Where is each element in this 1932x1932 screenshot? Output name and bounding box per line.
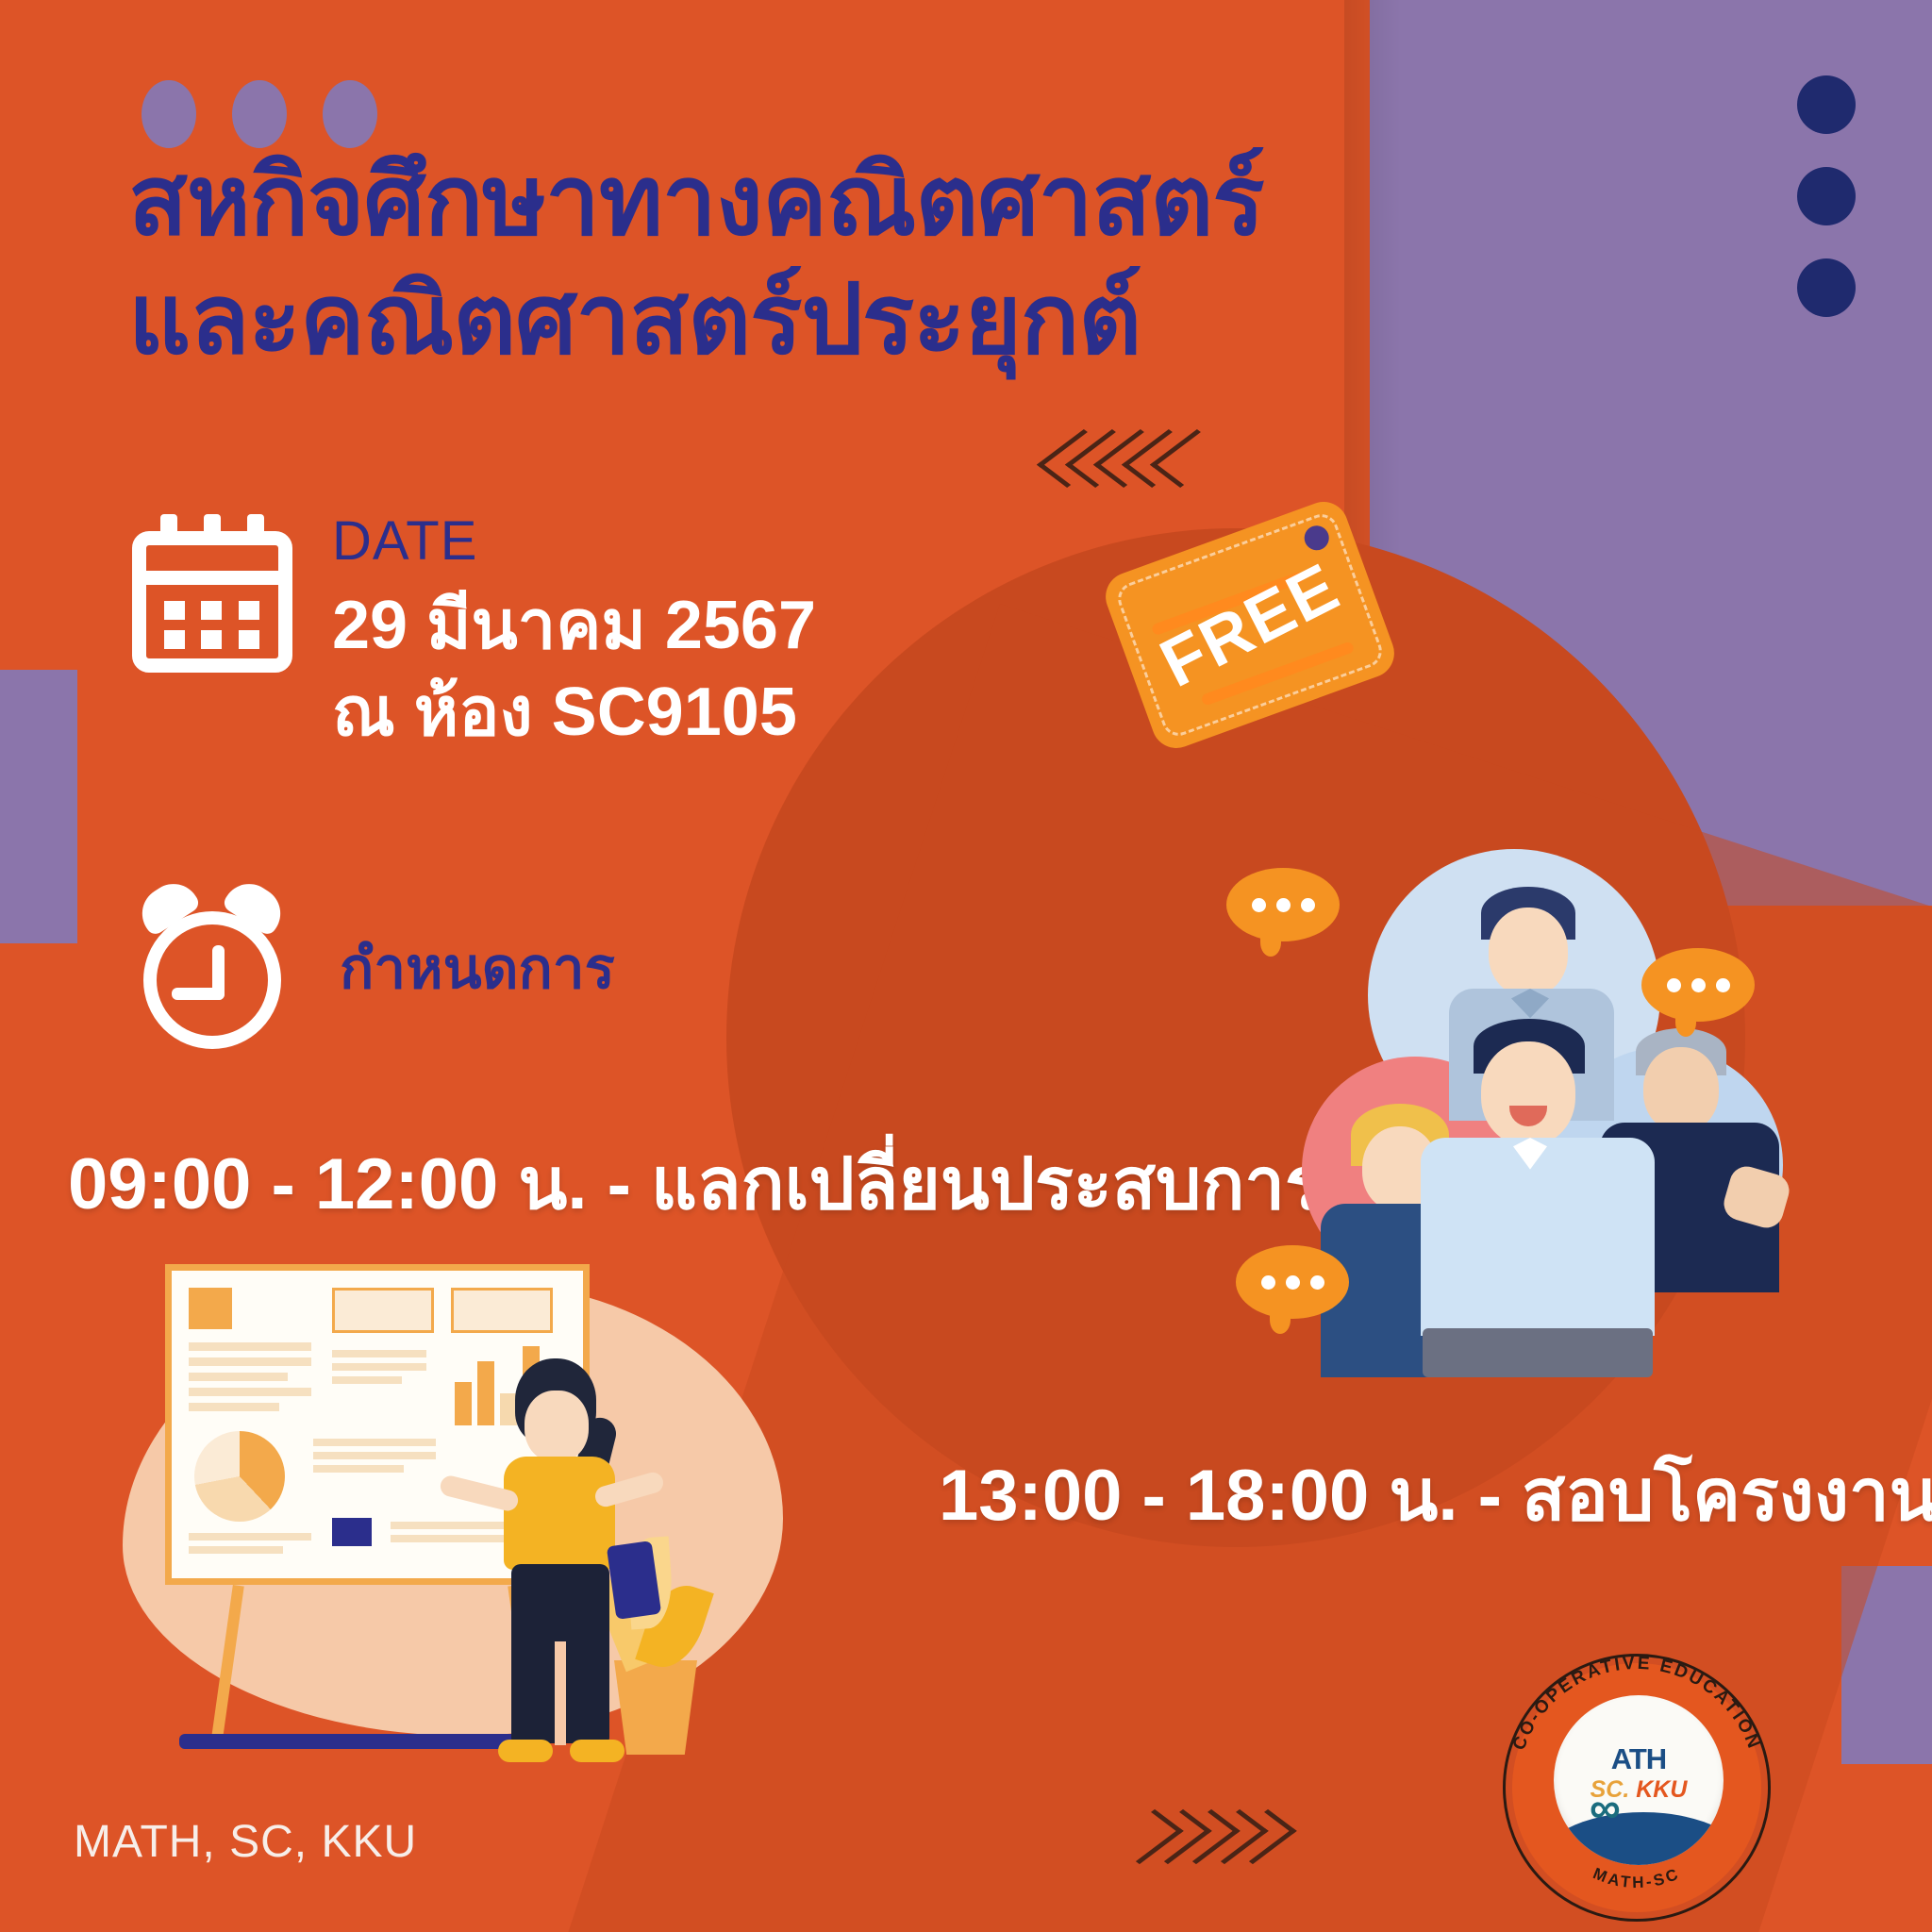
badge-arc-text: CO-OPERATIVE EDUCATION MATH-SC — [1495, 1646, 1778, 1929]
decorative-dots-top-right — [1797, 75, 1856, 350]
speech-bubble-icon — [1226, 868, 1340, 941]
person-presenter — [472, 1358, 670, 1764]
calendar-icon — [132, 514, 292, 673]
date-value: 29 มีนาคม 2567 — [332, 582, 816, 669]
schedule-item-afternoon: 13:00 - 18:00 น. - สอบโครงงาน — [939, 1439, 1932, 1552]
date-label: DATE — [332, 514, 816, 569]
title-line-1: สหกิจศึกษาทางคณิตศาสตร์ — [128, 146, 1264, 255]
page-title: สหกิจศึกษาทางคณิตศาสตร์ และคณิตศาสตร์ประ… — [128, 142, 1383, 378]
svg-text:CO-OPERATIVE EDUCATION: CO-OPERATIVE EDUCATION — [1509, 1654, 1764, 1753]
speech-bubble-icon — [1236, 1245, 1349, 1319]
schedule-label: กำหนดการ — [340, 924, 615, 1013]
date-info-row: DATE 29 มีนาคม 2567 ณ ห้อง SC9105 — [132, 514, 816, 756]
people-illustration — [1264, 840, 1792, 1424]
chevron-right-icon — [1137, 1809, 1278, 1864]
schedule-item-morning: 09:00 - 12:00 น. - แลกเปลี่ยนประสบการณ์ — [68, 1127, 1390, 1241]
background-block-purple-left — [0, 670, 77, 943]
footer-credit: MATH, SC, KKU — [74, 1816, 417, 1868]
cooperative-education-badge: ∞ ATH SC. KKU CO-OPERATIVE EDUCATION — [1495, 1646, 1778, 1929]
chevron-left-icon — [1066, 429, 1207, 488]
schedule-info-row: กำหนดการ — [132, 887, 615, 1049]
title-line-2: และคณิตศาสตร์ประยุกต์ — [128, 260, 1383, 379]
svg-text:MATH-SC: MATH-SC — [1591, 1864, 1683, 1891]
person-front — [1415, 1019, 1660, 1377]
event-poster: สหกิจศึกษาทางคณิตศาสตร์ และคณิตศาสตร์ประ… — [0, 0, 1932, 1932]
speech-bubble-icon — [1641, 948, 1755, 1022]
presenter-illustration — [123, 1255, 821, 1821]
alarm-clock-icon — [132, 887, 300, 1049]
room-value: ณ ห้อง SC9105 — [332, 669, 816, 756]
decorative-dots-top-left — [142, 80, 377, 148]
